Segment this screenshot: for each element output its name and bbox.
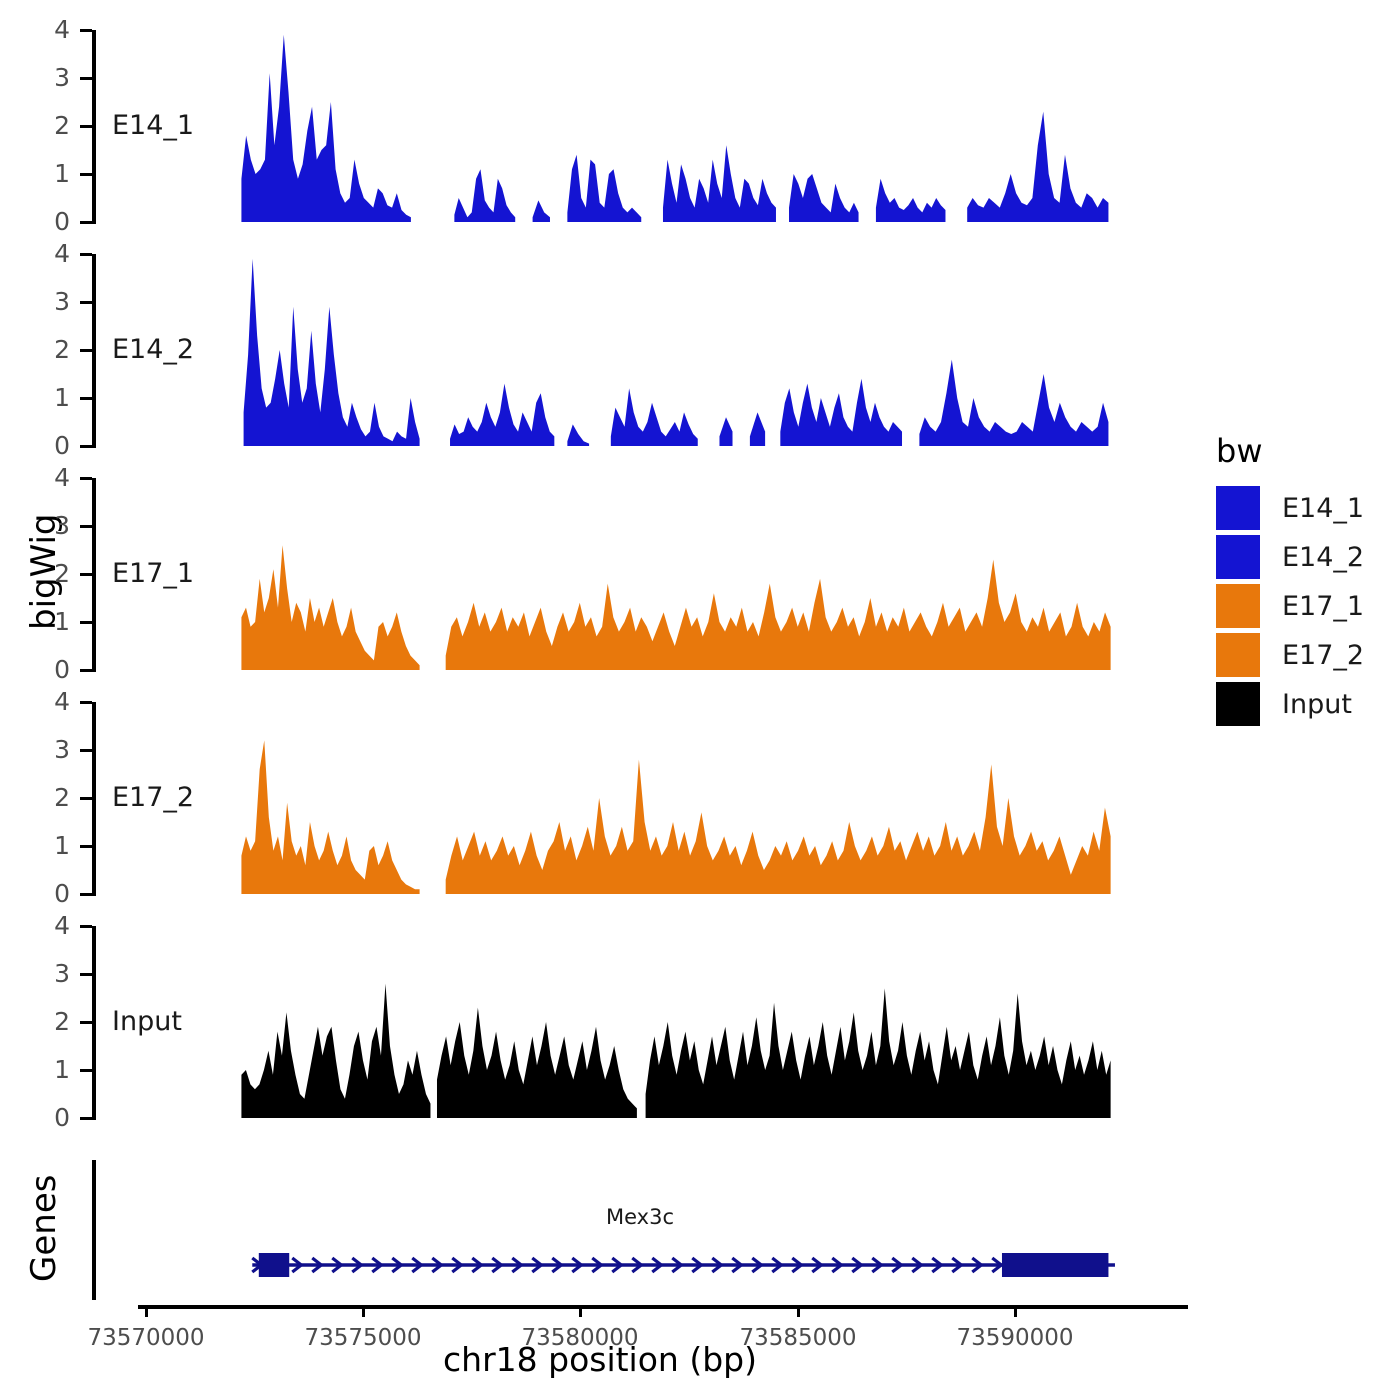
legend-item-Input[interactable]: Input bbox=[1216, 682, 1352, 726]
signal-area bbox=[919, 360, 1108, 446]
signal-area bbox=[241, 740, 419, 894]
signal-area bbox=[611, 388, 698, 446]
x-tick-mark bbox=[362, 1305, 365, 1317]
legend-label: E14_2 bbox=[1282, 544, 1364, 571]
legend-title: bw bbox=[1216, 432, 1262, 470]
signal-area bbox=[241, 545, 419, 670]
signal-area bbox=[719, 417, 732, 446]
legend-swatch-E14_2 bbox=[1216, 535, 1260, 579]
signal-area bbox=[789, 174, 859, 222]
gene-exon bbox=[1002, 1253, 1108, 1277]
signal-area bbox=[967, 112, 1108, 222]
signal-area bbox=[244, 259, 420, 446]
gene-model[interactable] bbox=[0, 1235, 1400, 1295]
legend-swatch-E14_1 bbox=[1216, 486, 1260, 530]
legend-label: Input bbox=[1282, 691, 1352, 718]
signal-track-E17_1 bbox=[0, 478, 1400, 674]
legend-swatch-E17_1 bbox=[1216, 584, 1260, 628]
signal-track-E14_1 bbox=[0, 30, 1400, 226]
signal-area bbox=[241, 984, 430, 1118]
x-tick-mark bbox=[797, 1305, 800, 1317]
signal-area bbox=[454, 169, 515, 222]
signal-area bbox=[533, 200, 550, 222]
x-tick-mark bbox=[145, 1305, 148, 1317]
signal-area bbox=[567, 155, 641, 222]
legend-item-E17_1[interactable]: E17_1 bbox=[1216, 584, 1364, 628]
signal-area bbox=[446, 760, 1111, 894]
signal-area bbox=[567, 424, 589, 446]
signal-area bbox=[437, 1008, 637, 1118]
signal-area bbox=[780, 379, 902, 446]
signal-track-E17_2 bbox=[0, 702, 1400, 898]
signal-area bbox=[876, 179, 946, 222]
legend-swatch-E17_2 bbox=[1216, 633, 1260, 677]
signal-area bbox=[750, 412, 765, 446]
x-tick-label: 73585000 bbox=[688, 1327, 908, 1350]
legend-label: E14_1 bbox=[1282, 495, 1364, 522]
legend-item-E14_1[interactable]: E14_1 bbox=[1216, 486, 1364, 530]
signal-area bbox=[663, 145, 776, 222]
signal-track-Input bbox=[0, 926, 1400, 1122]
legend-label: E17_2 bbox=[1282, 642, 1364, 669]
x-axis-line bbox=[138, 1305, 1188, 1309]
signal-area bbox=[646, 988, 1111, 1118]
gene-exon bbox=[259, 1253, 289, 1277]
x-tick-label: 73575000 bbox=[253, 1327, 473, 1350]
legend-swatch-Input bbox=[1216, 682, 1260, 726]
x-tick-label: 73570000 bbox=[36, 1327, 256, 1350]
x-tick-label: 73590000 bbox=[905, 1327, 1125, 1350]
x-tick-mark bbox=[1014, 1305, 1017, 1317]
signal-area bbox=[241, 35, 410, 222]
x-tick-mark bbox=[579, 1305, 582, 1317]
x-tick-label: 73580000 bbox=[470, 1327, 690, 1350]
legend-item-E14_2[interactable]: E14_2 bbox=[1216, 535, 1364, 579]
signal-track-E14_2 bbox=[0, 254, 1400, 450]
legend-label: E17_1 bbox=[1282, 593, 1364, 620]
legend-item-E17_2[interactable]: E17_2 bbox=[1216, 633, 1364, 677]
signal-area bbox=[450, 384, 554, 446]
signal-area bbox=[446, 560, 1111, 670]
gene-name-label: Mex3c bbox=[606, 1205, 674, 1229]
